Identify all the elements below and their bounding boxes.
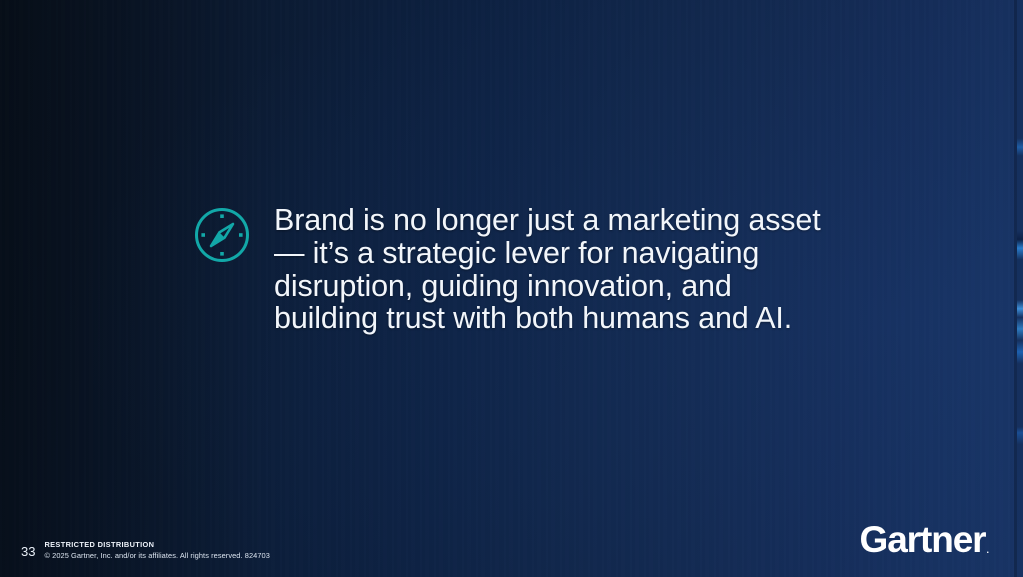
right-edge-artifact-strip	[1017, 0, 1023, 577]
quote-block: Brand is no longer just a marketing asse…	[193, 204, 821, 335]
gartner-logo: Gartner .	[860, 521, 989, 558]
footer-text-column: RESTRICTED DISTRIBUTION © 2025 Gartner, …	[44, 541, 269, 559]
registered-trademark-mark: .	[985, 546, 989, 558]
quote-text: Brand is no longer just a marketing asse…	[274, 204, 821, 335]
copyright-notice: © 2025 Gartner, Inc. and/or its affiliat…	[44, 552, 269, 559]
compass-icon	[193, 206, 251, 264]
gartner-wordmark: Gartner	[860, 521, 986, 558]
footer-left: 33 RESTRICTED DISTRIBUTION © 2025 Gartne…	[21, 541, 270, 559]
page-number: 33	[21, 545, 35, 559]
slide-canvas: Brand is no longer just a marketing asse…	[0, 0, 1023, 577]
right-edge-shadow-strip	[1014, 0, 1017, 577]
restricted-distribution-label: RESTRICTED DISTRIBUTION	[44, 541, 269, 548]
